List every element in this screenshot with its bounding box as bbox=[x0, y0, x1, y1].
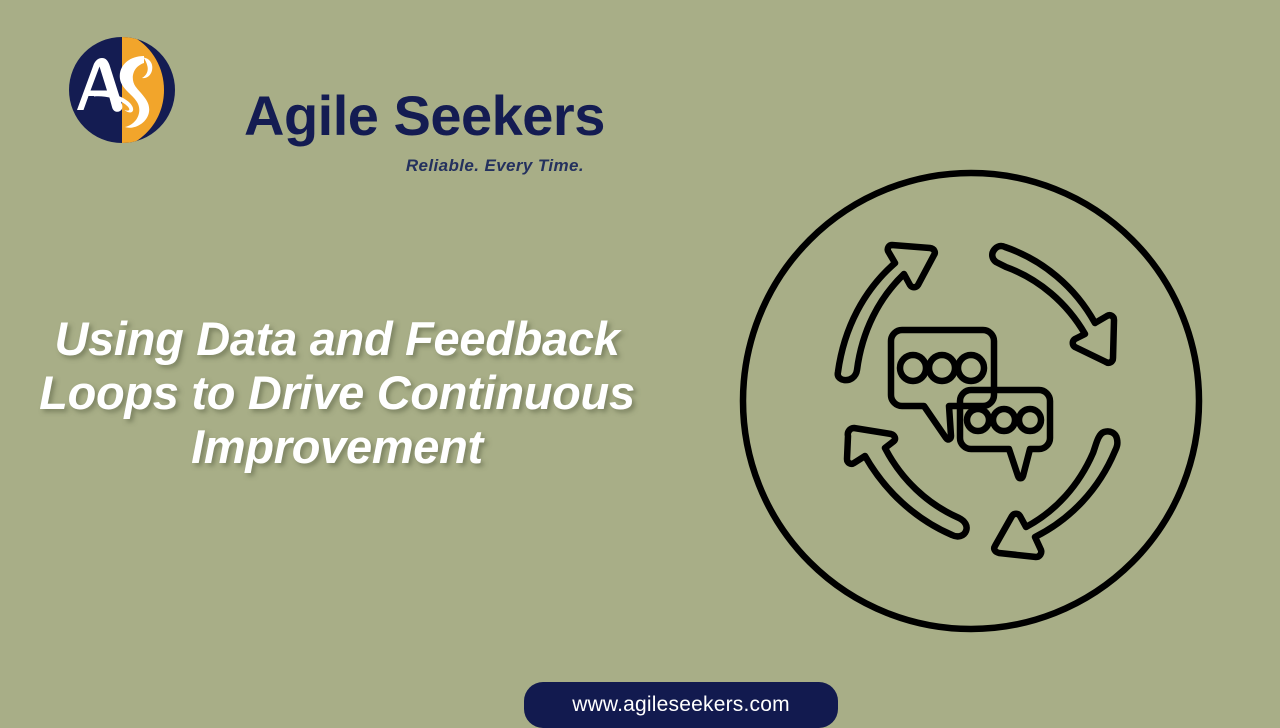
website-url-label: www.agileseekers.com bbox=[572, 693, 790, 717]
feedback-loop-speech-bubbles-icon bbox=[738, 168, 1204, 634]
agile-seekers-circle-monogram-icon bbox=[68, 36, 176, 144]
speech-bubble-upper bbox=[891, 330, 994, 439]
medallion-ring bbox=[743, 173, 1199, 629]
page-title: Using Data and Feedback Loops to Drive C… bbox=[34, 312, 640, 474]
brand-lockup: Agile Seekers Reliable. Every Time. bbox=[68, 36, 528, 154]
brand-tagline: Reliable. Every Time. bbox=[244, 156, 584, 176]
brand-wordmark: Agile Seekers bbox=[244, 88, 605, 144]
website-url-badge[interactable]: www.agileseekers.com bbox=[524, 682, 838, 728]
